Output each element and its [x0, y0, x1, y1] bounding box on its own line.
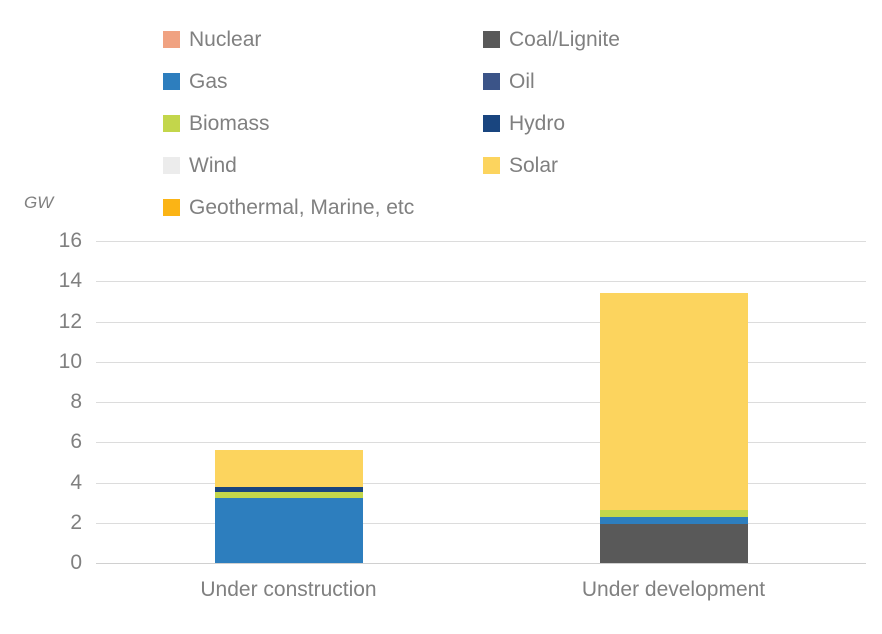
- legend-item-label: Hydro: [509, 113, 565, 134]
- legend-swatch: [483, 73, 500, 90]
- legend-item[interactable]: Coal/Lignite: [483, 18, 803, 60]
- x-axis-category-label: Under development: [481, 578, 866, 602]
- legend-item-label: Biomass: [189, 113, 270, 134]
- x-axis-labels: Under constructionUnder development: [96, 578, 866, 602]
- y-axis-tick-label: 6: [70, 430, 82, 454]
- legend-item[interactable]: Nuclear: [163, 18, 483, 60]
- legend-item[interactable]: Oil: [483, 60, 803, 102]
- bar-segment[interactable]: [215, 487, 363, 492]
- legend-item-label: Nuclear: [189, 29, 261, 50]
- bar-segment[interactable]: [215, 498, 363, 563]
- bar-segment[interactable]: [600, 524, 748, 563]
- legend-item[interactable]: Wind: [163, 144, 483, 186]
- bar-segment[interactable]: [215, 492, 363, 498]
- bar-group: [481, 241, 866, 563]
- legend-swatch: [163, 157, 180, 174]
- legend-swatch: [483, 31, 500, 48]
- bar-segment[interactable]: [600, 293, 748, 509]
- y-axis-title: GW: [24, 193, 53, 213]
- stacked-bar[interactable]: [600, 241, 748, 563]
- bar-series-layer: [96, 241, 866, 563]
- plot-area: 1614121086420: [96, 241, 866, 563]
- legend-item[interactable]: Biomass: [163, 102, 483, 144]
- stacked-bar-chart: NuclearCoal/LigniteGasOilBiomassHydroWin…: [0, 0, 882, 634]
- legend-swatch: [163, 31, 180, 48]
- gridline: 0: [96, 563, 866, 564]
- y-axis-tick-label: 12: [59, 310, 82, 334]
- y-axis-tick-label: 14: [59, 269, 82, 293]
- legend-item-label: Solar: [509, 155, 558, 176]
- y-axis-tick-label: 8: [70, 390, 82, 414]
- y-axis-tick-label: 16: [59, 229, 82, 253]
- legend-item-label: Wind: [189, 155, 237, 176]
- bar-group: [96, 241, 481, 563]
- y-axis-tick-label: 4: [70, 471, 82, 495]
- legend-item[interactable]: Hydro: [483, 102, 803, 144]
- y-axis-tick-label: 0: [70, 551, 82, 575]
- legend-swatch: [163, 73, 180, 90]
- legend-item[interactable]: Solar: [483, 144, 803, 186]
- bar-segment[interactable]: [215, 450, 363, 486]
- legend-item-label: Geothermal, Marine, etc: [189, 197, 414, 218]
- legend-item-label: Gas: [189, 71, 228, 92]
- legend-item-label: Oil: [509, 71, 535, 92]
- legend-swatch: [163, 115, 180, 132]
- y-axis-tick-label: 10: [59, 350, 82, 374]
- y-axis-tick-label: 2: [70, 511, 82, 535]
- legend-item-label: Coal/Lignite: [509, 29, 620, 50]
- bar-segment[interactable]: [600, 510, 748, 517]
- legend-swatch: [483, 115, 500, 132]
- legend-item[interactable]: Gas: [163, 60, 483, 102]
- chart-legend: NuclearCoal/LigniteGasOilBiomassHydroWin…: [163, 18, 803, 228]
- legend-item[interactable]: Geothermal, Marine, etc: [163, 186, 803, 228]
- x-axis-category-label: Under construction: [96, 578, 481, 602]
- legend-swatch: [163, 199, 180, 216]
- stacked-bar[interactable]: [215, 241, 363, 563]
- bar-segment[interactable]: [600, 517, 748, 524]
- legend-swatch: [483, 157, 500, 174]
